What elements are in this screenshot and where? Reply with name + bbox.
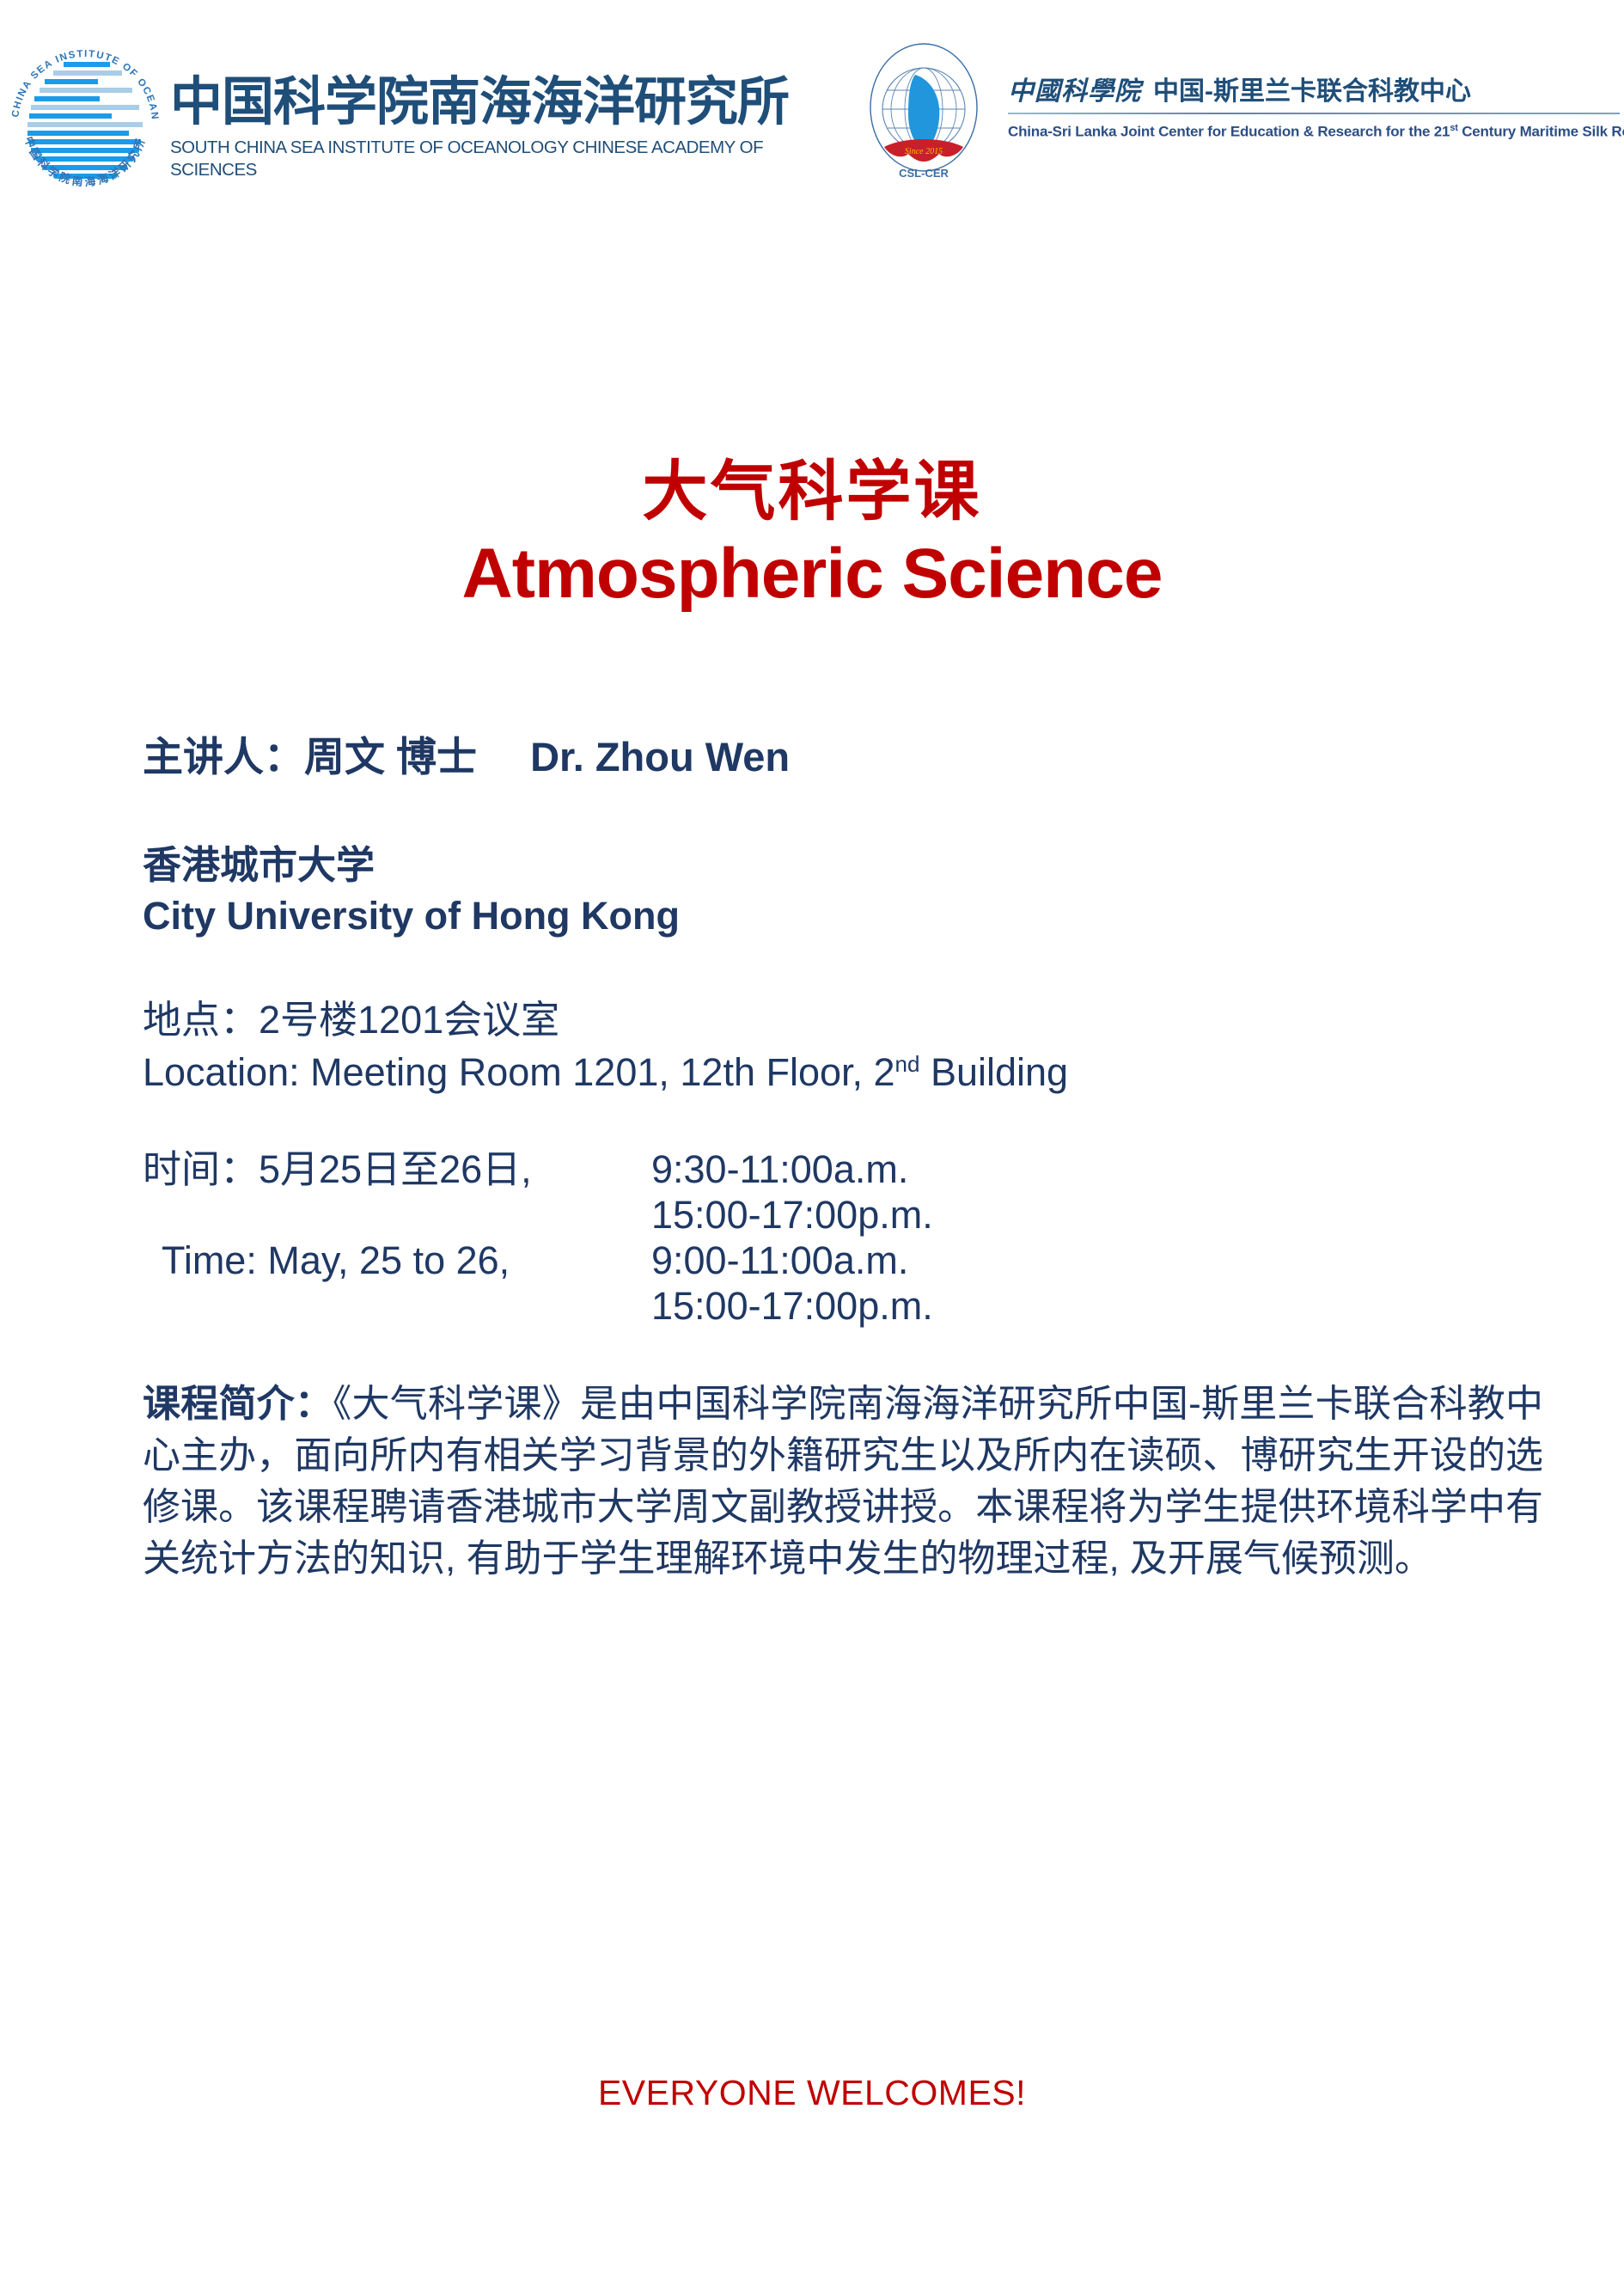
sri-lanka-shape-icon (908, 75, 939, 150)
time-label-cn: 时间：5月25日至26日, (143, 1146, 632, 1192)
time-spacer-en (143, 1283, 632, 1329)
scsio-globe-seal-logo: SOUTH CHINA SEA INSTITUTE OF OCEANOLOGY … (7, 41, 163, 198)
scsio-wordmark: 中国科学院南海海洋研究所 SOUTH CHINA SEA INSTITUTE O… (170, 76, 858, 181)
cslcer-name-en-sup: st (1450, 123, 1457, 133)
poster-header: SOUTH CHINA SEA INSTITUTE OF OCEANOLOGY … (0, 0, 1624, 258)
time-cn-slot-2: 15:00-17:00p.m. (632, 1192, 1569, 1238)
cas-name-cn: 中國科學院 (1008, 77, 1141, 106)
cslcer-name-en-prefix: China-Sri Lanka Joint Center for Educati… (1008, 124, 1450, 140)
scsio-name-en: SOUTH CHINA SEA INSTITUTE OF OCEANOLOGY … (170, 137, 849, 181)
cslcer-logo-block: Since 2015 CSL-CER 中國科學院中国-斯里兰卡联合科教中心 Ch… (855, 34, 1620, 185)
time-label-en: Time: May, 25 to 26, (143, 1238, 632, 1283)
affiliation-en: City University of Hong Kong (143, 890, 1569, 941)
cslcer-name-en-suffix: Century Maritime Silk Road (1458, 124, 1624, 140)
ribbon-since-text: Since 2015 (905, 147, 943, 156)
cslcer-divider (1008, 113, 1620, 114)
poster-footer: EVERYONE WELCOMES! (0, 2073, 1624, 2113)
location-en-prefix: Location: Meeting Room 1201, 12th Floor,… (143, 1050, 895, 1094)
speaker-row: 主讲人：周文 博士Dr. Zhou Wen (143, 735, 1569, 779)
speaker-label-en: Dr. Zhou Wen (530, 734, 790, 779)
cslcer-name-cn-line: 中國科學院中国-斯里兰卡联合科教中心 (1008, 79, 1620, 105)
cslcer-wordmark: 中國科學院中国-斯里兰卡联合科教中心 China-Sri Lanka Joint… (1008, 79, 1620, 141)
location-en-sup: nd (895, 1051, 920, 1077)
affiliation-cn: 香港城市大学 (143, 840, 1569, 890)
time-cn-slot-1: 9:30-11:00a.m. (632, 1146, 1569, 1192)
time-grid: 时间：5月25日至26日, 9:30-11:00a.m. 15:00-17:00… (143, 1146, 1569, 1329)
poster-content: 主讲人：周文 博士Dr. Zhou Wen 香港城市大学 City Univer… (143, 735, 1569, 1585)
welcome-text: EVERYONE WELCOMES! (598, 2073, 1026, 2112)
location-en: Location: Meeting Room 1201, 12th Floor,… (143, 1047, 1569, 1098)
cslcer-acronym: CSL-CER (899, 167, 949, 180)
description-label: 课程简介： (143, 1383, 333, 1425)
description-row: 课程简介：《大气科学课》是由中国科学院南海海洋研究所中国-斯里兰卡联合科教中心主… (143, 1378, 1543, 1584)
scsio-globe-icon (24, 53, 146, 187)
cslcer-name-en: China-Sri Lanka Joint Center for Educati… (1008, 123, 1620, 141)
course-title-cn: 大气科学课 (0, 455, 1624, 529)
time-spacer-cn (143, 1192, 632, 1238)
location-row: 地点：2号楼1201会议室 Location: Meeting Room 120… (143, 994, 1569, 1098)
time-en-slot-1: 9:00-11:00a.m. (632, 1238, 1569, 1283)
csl-cer-globe-ribbon-logo: Since 2015 CSL-CER (855, 37, 992, 181)
scsio-name-cn: 中国科学院南海海洋研究所 (170, 76, 858, 128)
time-row: 时间：5月25日至26日, 9:30-11:00a.m. 15:00-17:00… (143, 1146, 1569, 1329)
time-en-slot-2: 15:00-17:00p.m. (632, 1283, 1569, 1329)
affiliation-row: 香港城市大学 City University of Hong Kong (143, 840, 1569, 942)
speaker-label-cn: 主讲人：周文 博士 (143, 734, 477, 779)
course-title-en: Atmospheric Science (0, 535, 1624, 613)
cslcer-name-cn: 中国-斯里兰卡联合科教中心 (1153, 77, 1471, 106)
description-body: 《大气科学课》是由中国科学院南海海洋研究所中国-斯里兰卡联合科教中心主办，面向所… (143, 1383, 1543, 1579)
location-en-suffix: Building (919, 1050, 1068, 1094)
poster-title-block: 大气科学课 Atmospheric Science (0, 455, 1624, 613)
location-cn: 地点：2号楼1201会议室 (143, 994, 1569, 1046)
